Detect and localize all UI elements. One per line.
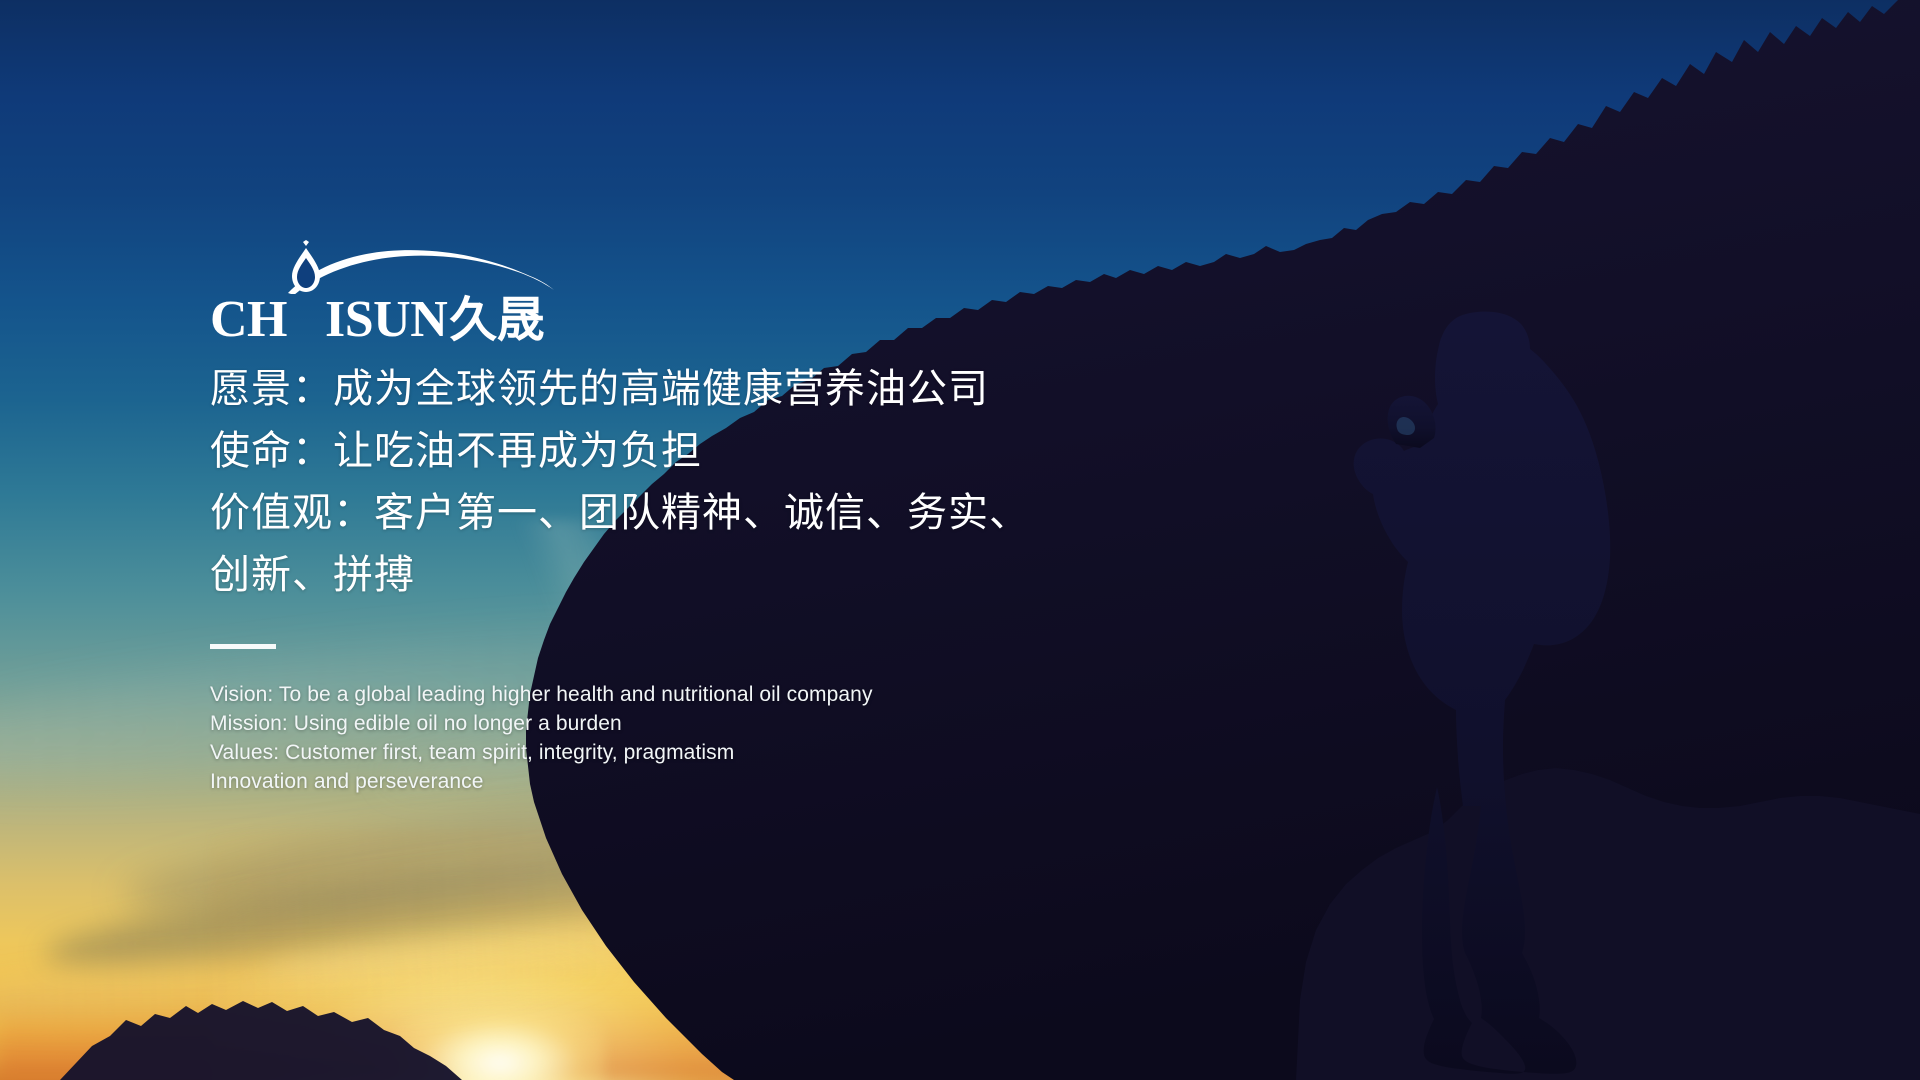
logo-text-after: ISUN [325,294,447,346]
logo-wordmark: CH ISUN久晟 [210,284,544,347]
oil-drop-icon [287,284,325,336]
brand-logo[interactable]: CH ISUN久晟 [210,248,610,340]
mountain-ridge-icon [60,1001,462,1080]
statement-en-vision: Vision: To be a global leading higher he… [210,680,873,709]
slide-canvas: CH ISUN久晟 愿景：成为全球领先的高端健康营养油公司 使命：让吃油不再成为… [0,0,1920,1080]
statements-chinese: 愿景：成为全球领先的高端健康营养油公司 使命：让吃油不再成为负担 价值观：客户第… [210,358,1030,606]
statement-en-values: Values: Customer first, team spirit, int… [210,738,873,767]
statement-cn-values: 价值观：客户第一、团队精神、诚信、务实、 [210,482,1030,544]
logo-text-before: CH [210,294,287,346]
statement-en-values-cont: Innovation and perseverance [210,767,873,796]
statement-cn-mission: 使命：让吃油不再成为负担 [210,420,1030,482]
logo-text-cjk: 久晟 [449,295,544,347]
statement-cn-vision: 愿景：成为全球领先的高端健康营养油公司 [210,358,1030,420]
statement-en-mission: Mission: Using edible oil no longer a bu… [210,709,873,738]
section-divider [210,644,276,649]
statements-english: Vision: To be a global leading higher he… [210,680,873,796]
statement-cn-values-cont: 创新、拼搏 [210,544,1030,606]
